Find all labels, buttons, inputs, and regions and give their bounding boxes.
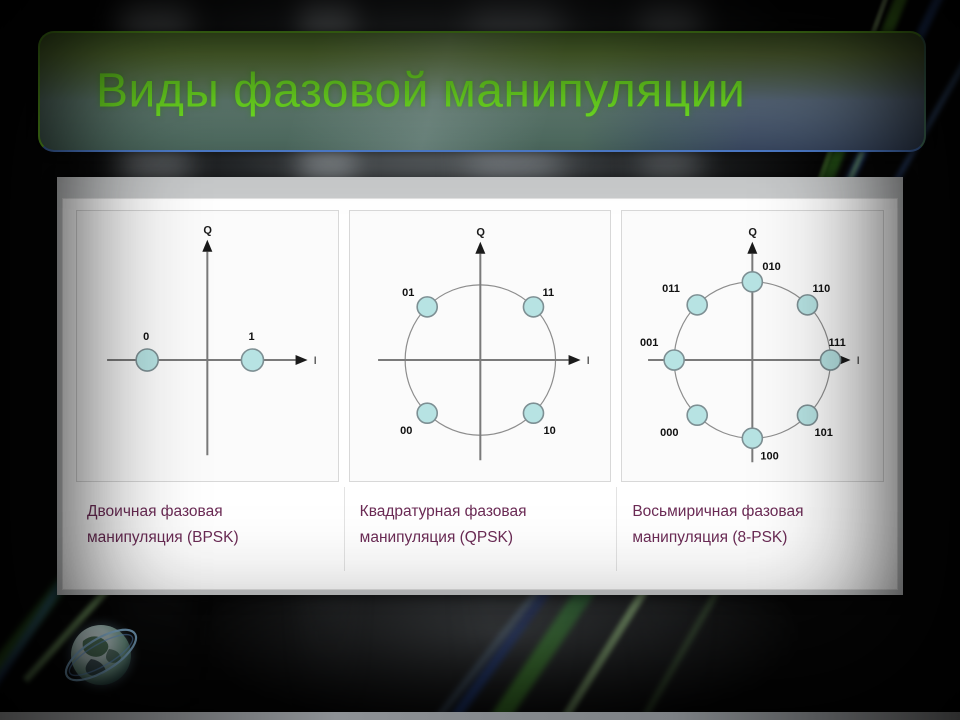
axes — [107, 240, 308, 456]
constellation-point — [241, 349, 263, 371]
caption-cell-bpsk: Двоичная фазовая манипуляция (BPSK) — [71, 485, 344, 581]
diagram-row: I Q 0 1 — [71, 207, 889, 485]
slide-canvas: Виды фазовой манипуляции I — [0, 0, 960, 720]
axis-label-i: I — [586, 355, 589, 367]
title-box: Виды фазовой манипуляции — [38, 31, 926, 152]
point-label: 01 — [402, 287, 414, 299]
constellation-point — [523, 403, 543, 423]
constellation-point — [664, 350, 684, 370]
content-image-frame: I Q 0 1 — [57, 177, 903, 595]
axis-label-i: I — [314, 355, 317, 367]
point-label: 111 — [829, 337, 846, 349]
constellation-point — [798, 295, 818, 315]
constellation-points: 11 01 00 10 — [400, 287, 556, 437]
constellation-point — [743, 272, 763, 292]
axis-label-q: Q — [203, 225, 212, 237]
caption-bpsk: Двоичная фазовая манипуляция (BPSK) — [87, 499, 317, 550]
constellation-points: 0 1 — [136, 331, 263, 371]
point-label: 000 — [660, 427, 678, 439]
content-image: I Q 0 1 — [62, 198, 898, 590]
qpsk-constellation-svg: I Q 11 01 00 10 — [350, 211, 611, 481]
constellation-point — [821, 350, 841, 370]
globe-icon — [47, 605, 157, 705]
bpsk-constellation-svg: I Q 0 1 — [77, 211, 338, 481]
point-label: 1 — [248, 331, 254, 343]
constellation-point — [688, 405, 708, 425]
point-label: 101 — [815, 427, 833, 439]
point-label: 110 — [813, 283, 831, 295]
point-label: 10 — [543, 425, 555, 437]
caption-cell-qpsk: Квадратурная фазовая манипуляция (QPSK) — [344, 485, 617, 581]
point-label: 010 — [763, 261, 781, 273]
caption-cell-8psk: Восьмиричная фазовая манипуляция (8-PSK) — [616, 485, 889, 581]
diagram-cell-bpsk: I Q 0 1 — [76, 210, 339, 482]
caption-8psk: Восьмиричная фазовая манипуляция (8-PSK) — [632, 499, 862, 550]
constellation-points: 111 110 010 011 001 000 — [640, 261, 846, 462]
axis-label-i: I — [857, 355, 860, 367]
caption-row: Двоичная фазовая манипуляция (BPSK) Квад… — [71, 485, 889, 581]
diagram-cell-qpsk: I Q 11 01 00 10 — [349, 210, 612, 482]
eightpsk-constellation-svg: I Q 111 110 010 011 — [622, 211, 883, 481]
point-label: 11 — [542, 287, 554, 299]
point-label: 011 — [662, 283, 680, 295]
diagram-cell-8psk: I Q 111 110 010 011 — [621, 210, 884, 482]
point-label: 001 — [640, 337, 658, 349]
constellation-point — [743, 428, 763, 448]
page-title: Виды фазовой манипуляции — [96, 63, 745, 118]
constellation-grid: I Q 0 1 — [71, 207, 889, 581]
axis-label-q: Q — [749, 227, 758, 239]
constellation-point — [688, 295, 708, 315]
axis-label-q: Q — [476, 227, 485, 239]
point-label: 100 — [761, 450, 779, 462]
caption-qpsk: Квадратурная фазовая манипуляция (QPSK) — [360, 499, 590, 550]
constellation-point — [417, 297, 437, 317]
point-label: 0 — [143, 331, 149, 343]
constellation-point — [417, 403, 437, 423]
constellation-point — [523, 297, 543, 317]
constellation-point — [798, 405, 818, 425]
constellation-point — [136, 349, 158, 371]
bottom-bar — [0, 712, 960, 720]
point-label: 00 — [400, 425, 412, 437]
